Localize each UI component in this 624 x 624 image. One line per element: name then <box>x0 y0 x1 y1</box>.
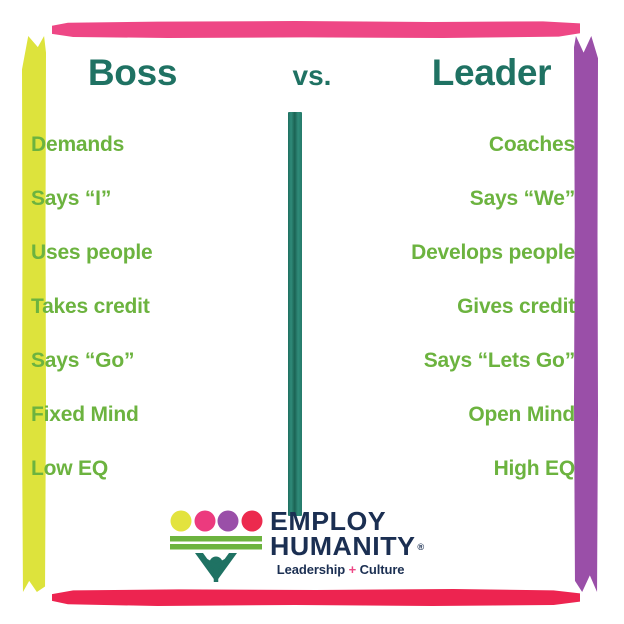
logo-word-humanity-wrap: HUMANITY ® <box>270 534 415 559</box>
comparison-row: Takes credit Gives credit <box>0 280 624 334</box>
frame-stroke-bottom <box>52 589 580 606</box>
boss-trait: Uses people <box>0 241 261 265</box>
comparison-row: Uses people Develops people <box>0 226 624 280</box>
heading-leader: Leader <box>359 52 624 94</box>
logo-wordmark: EMPLOY HUMANITY ® Leadership + Culture <box>270 508 411 577</box>
tagline-culture: Culture <box>360 562 405 577</box>
comparison-row: Fixed Mind Open Mind <box>0 388 624 442</box>
heading-versus: vs. <box>265 60 359 92</box>
heading-boss: Boss <box>0 52 265 94</box>
comparison-row: Says “I” Says “We” <box>0 172 624 226</box>
comparison-row: Says “Go” Says “Lets Go” <box>0 334 624 388</box>
leader-trait: High EQ <box>329 457 624 481</box>
infographic-poster: Boss vs. Leader Demands Coaches Says “I”… <box>0 0 624 624</box>
tagline-leadership: Leadership <box>277 562 345 577</box>
boss-trait: Says “Go” <box>0 349 261 373</box>
boss-trait: Low EQ <box>0 457 261 481</box>
leader-trait: Says “Lets Go” <box>329 349 624 373</box>
headings-row: Boss vs. Leader <box>0 52 624 94</box>
leader-trait: Open Mind <box>329 403 624 427</box>
leader-trait: Develops people <box>329 241 624 265</box>
registered-trademark-icon: ® <box>417 535 424 560</box>
boss-trait: Fixed Mind <box>0 403 261 427</box>
logo-word-humanity: HUMANITY ® <box>270 534 415 559</box>
employ-humanity-logo: EMPLOY HUMANITY ® Leadership + Culture <box>168 508 458 588</box>
comparison-list: Demands Coaches Says “I” Says “We” Uses … <box>0 118 624 496</box>
heading-versus-label: vs. <box>293 60 332 91</box>
leader-trait: Coaches <box>329 133 624 157</box>
boss-trait: Says “I” <box>0 187 261 211</box>
leader-trait: Gives credit <box>329 295 624 319</box>
logo-word-humanity-text: HUMANITY <box>270 531 415 561</box>
frame-stroke-top <box>52 21 580 38</box>
comparison-row: Demands Coaches <box>0 118 624 172</box>
logo-mark-icon <box>168 508 264 584</box>
leader-trait: Says “We” <box>329 187 624 211</box>
boss-trait: Takes credit <box>0 295 261 319</box>
boss-trait: Demands <box>0 133 261 157</box>
logo-tagline: Leadership + Culture <box>270 562 411 577</box>
heading-boss-label: Boss <box>88 52 177 93</box>
heading-leader-label: Leader <box>432 52 552 93</box>
comparison-row: Low EQ High EQ <box>0 442 624 496</box>
tagline-plus-icon: + <box>349 562 357 577</box>
